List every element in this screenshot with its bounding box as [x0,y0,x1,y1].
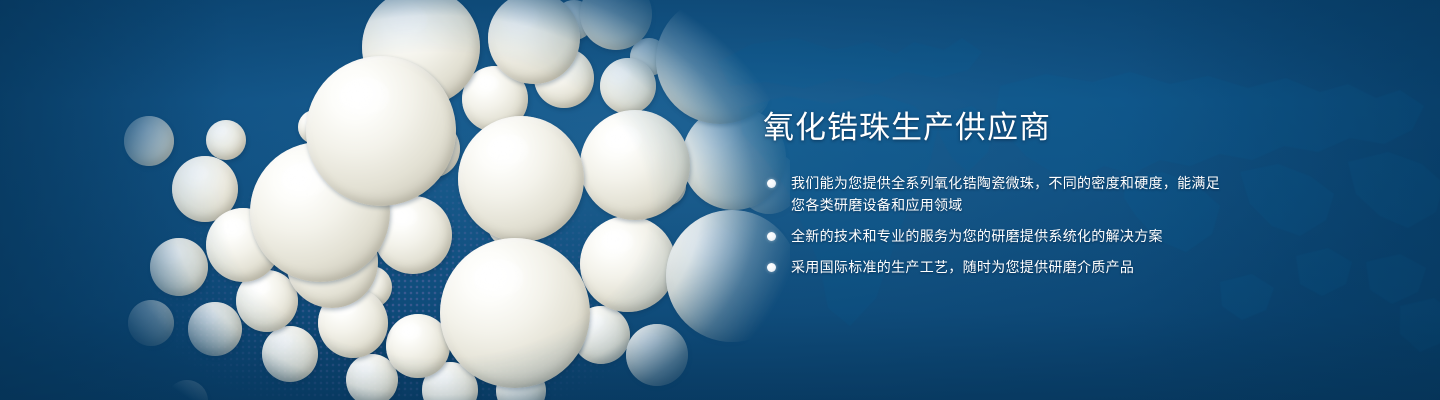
ceramic-bead [656,0,784,124]
ceramic-bead [166,380,208,400]
feature-list: 我们能为您提供全系列氧化锆陶瓷微珠，不同的密度和硬度，能满足您各类研磨设备和应用… [763,172,1233,278]
list-item-label: 我们能为您提供全系列氧化锆陶瓷微珠，不同的密度和硬度，能满足您各类研磨设备和应用… [791,175,1220,213]
ceramic-bead [440,238,590,388]
list-item: 采用国际标准的生产工艺，随时为您提供研磨介质产品 [763,256,1233,278]
ceramic-bead [580,216,676,312]
ceramic-bead [150,238,208,296]
ceramic-bead [626,324,688,386]
circle-bullet-icon [767,232,776,241]
list-item-label: 采用国际标准的生产工艺，随时为您提供研磨介质产品 [791,259,1134,275]
ceramic-bead [188,302,242,356]
ceramic-bead [600,58,656,114]
zirconia-beads-image [110,0,790,400]
hero-banner: 氧化锆珠生产供应商 我们能为您提供全系列氧化锆陶瓷微珠，不同的密度和硬度，能满足… [0,0,1440,400]
banner-copy: 氧化锆珠生产供应商 我们能为您提供全系列氧化锆陶瓷微珠，不同的密度和硬度，能满足… [763,108,1233,287]
ceramic-bead [206,120,246,160]
circle-bullet-icon [767,179,776,188]
ceramic-bead [580,110,690,220]
ceramic-bead [306,56,456,206]
list-item-label: 全新的技术和专业的服务为您的研磨提供系统化的解决方案 [791,228,1163,244]
ceramic-bead [262,326,318,382]
ceramic-bead [458,116,584,242]
ceramic-bead [128,300,174,346]
circle-bullet-icon [767,263,776,272]
list-item: 全新的技术和专业的服务为您的研磨提供系统化的解决方案 [763,225,1233,247]
ceramic-bead [124,116,174,166]
list-item: 我们能为您提供全系列氧化锆陶瓷微珠，不同的密度和硬度，能满足您各类研磨设备和应用… [763,172,1233,216]
page-title: 氧化锆珠生产供应商 [763,108,1233,148]
